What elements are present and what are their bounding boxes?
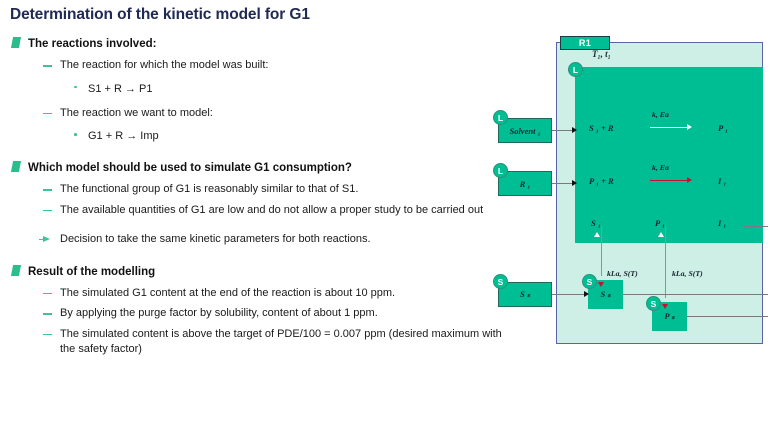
list-item-text: The functional group of G1 is reasonably… xyxy=(60,182,520,198)
precipitation-arrow-s-icon xyxy=(598,282,604,287)
reactor-liquid-phase xyxy=(575,67,763,243)
phase-badge-solid: S xyxy=(646,296,661,311)
bullet-square-icon xyxy=(11,161,21,172)
list-item-text: S1 + R → P1 xyxy=(88,83,153,95)
list-item-text: The simulated content is above the targe… xyxy=(60,327,520,358)
bullet-square-icon xyxy=(11,265,21,276)
slide: Determination of the kinetic model for G… xyxy=(0,0,773,425)
section-heading-text: Which model should be used to simulate G… xyxy=(28,162,352,174)
dash-bullet-icon xyxy=(43,65,52,67)
reaction-2-kinetics: k, Ea xyxy=(652,163,669,172)
feed-arrow-solid-s-icon xyxy=(584,291,589,297)
reaction-2-arrow-icon xyxy=(650,180,688,181)
section-heading-text: The reactions involved: xyxy=(28,38,156,50)
list-item-text: By applying the purge factor by solubili… xyxy=(60,306,520,322)
dash-bullet-icon xyxy=(43,334,52,336)
list-item-text: The reaction we want to model: xyxy=(60,106,520,122)
phase-badge-liquid: L xyxy=(493,110,508,125)
reactor-tab-r1: R1 xyxy=(560,36,610,50)
dot-bullet-icon xyxy=(74,86,77,89)
dash-bullet-icon xyxy=(43,313,52,315)
list-item-conclusion: Decision to take the same kinetic parame… xyxy=(0,232,520,248)
section-heading-results: Result of the modelling xyxy=(0,262,520,280)
reaction-1-kinetics: k, Ea xyxy=(652,110,669,119)
phase-badge-liquid: L xyxy=(493,163,508,178)
list-item: S1 + R → P1 xyxy=(0,79,520,97)
phase-badge-liquid: L xyxy=(568,62,583,77)
list-item-text: Decision to take the same kinetic parame… xyxy=(60,232,520,248)
feed-line-reagent xyxy=(552,183,574,184)
list-item: By applying the purge factor by solubili… xyxy=(0,306,520,322)
page-title: Determination of the kinetic model for G… xyxy=(10,6,310,24)
list-item: The available quantities of G1 are low a… xyxy=(0,203,520,219)
dissolution-arrow-p-icon xyxy=(658,232,664,237)
list-item: The simulated content is above the targe… xyxy=(0,327,520,358)
list-item: The functional group of G1 is reasonably… xyxy=(0,182,520,198)
list-item: G1 + R → Imp xyxy=(0,126,520,144)
phase-badge-solid: S xyxy=(493,274,508,289)
species-label-i1: I ₁ xyxy=(718,218,726,228)
reactor-diagram: R1 L T₁, t₁ Solvent ₁ L R ₁ L S ₁ + R k,… xyxy=(556,36,766,347)
list-item: The simulated G1 content at the end of t… xyxy=(0,286,520,302)
transfer-label-s: kLa, S(T) xyxy=(607,269,638,278)
transfer-line-s xyxy=(601,226,602,276)
list-item-text: The reaction for which the model was bui… xyxy=(60,58,520,74)
dash-bullet-icon xyxy=(43,113,52,115)
outflow-line-s xyxy=(623,294,768,295)
list-item-text: The simulated G1 content at the end of t… xyxy=(60,286,520,302)
conditions-label: T₁, t₁ xyxy=(592,49,611,59)
reaction-2-reactants: P ₁ + R xyxy=(589,176,614,186)
transfer-label-p: kLa, S(T) xyxy=(672,269,703,278)
reaction-1-arrow-icon xyxy=(650,127,688,128)
content-column: The reactions involved: The reaction for… xyxy=(0,34,520,363)
feed-line-solid-s xyxy=(552,294,587,295)
list-item-text: The available quantities of G1 are low a… xyxy=(60,203,520,219)
section-heading-model-choice: Which model should be used to simulate G… xyxy=(0,158,520,176)
reaction-1-product: P ₁ xyxy=(718,123,728,133)
dash-bullet-icon xyxy=(43,189,52,191)
dissolution-arrow-s-icon xyxy=(594,232,600,237)
dash-bullet-icon xyxy=(43,293,52,295)
list-item-text: G1 + R → Imp xyxy=(88,130,159,142)
reaction-1-reactants: S ₁ + R xyxy=(589,123,614,133)
feed-arrow-reagent-icon xyxy=(572,180,577,186)
bullet-square-icon xyxy=(11,37,21,48)
reaction-2-product: I ₁ xyxy=(718,176,726,186)
dot-bullet-icon xyxy=(74,133,77,136)
list-item: The reaction we want to model: xyxy=(0,106,520,122)
dash-bullet-icon xyxy=(43,210,52,212)
species-label-s1: S ₁ xyxy=(591,218,601,228)
species-label-p1: P ₁ xyxy=(655,218,665,228)
feed-line-solvent xyxy=(552,130,574,131)
arrow-bullet-icon xyxy=(43,236,50,242)
outflow-line-p xyxy=(687,316,768,317)
outflow-line-i xyxy=(744,226,768,227)
feed-arrow-solvent-icon xyxy=(572,127,577,133)
transfer-line-p xyxy=(665,226,666,298)
precipitation-arrow-p-icon xyxy=(662,304,668,309)
list-item: The reaction for which the model was bui… xyxy=(0,58,520,74)
phase-badge-solid: S xyxy=(582,274,597,289)
section-heading-text: Result of the modelling xyxy=(28,266,155,278)
section-heading-reactions: The reactions involved: xyxy=(0,34,520,52)
